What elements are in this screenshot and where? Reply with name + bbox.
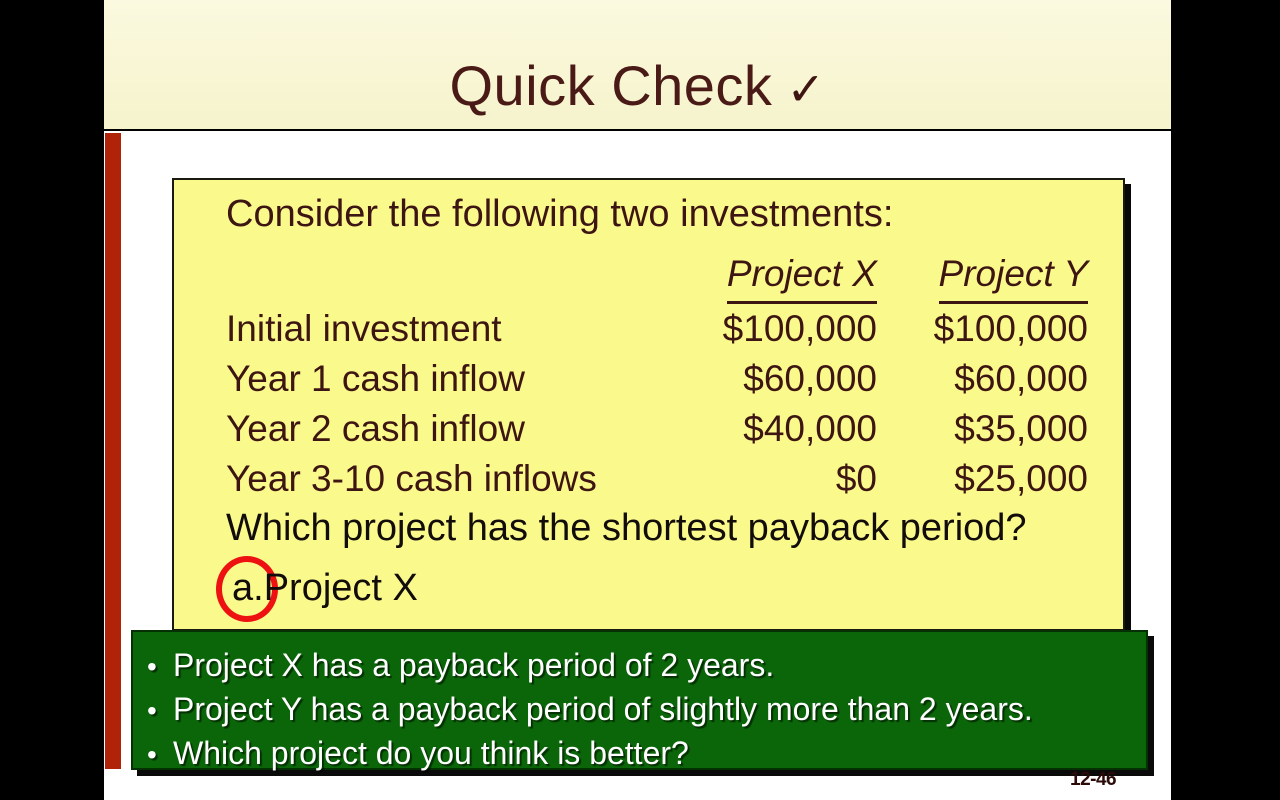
check-mark-icon: ✓ (786, 63, 825, 115)
cell-project-x: $0 (666, 454, 877, 504)
slide-viewer: Quick Check✓ Consider the following two … (0, 0, 1280, 800)
intro-text: Consider the following two investments: (226, 192, 893, 236)
row-label: Year 1 cash inflow (226, 354, 666, 404)
column-header-project-x: Project X (666, 248, 877, 304)
content-panel: Consider the following two investments: … (172, 178, 1125, 631)
list-item: •Project X has a payback period of 2 yea… (147, 644, 1146, 688)
bullet-icon: • (147, 689, 173, 732)
table-row: Year 2 cash inflow $40,000 $35,000 (226, 404, 1088, 454)
list-item-label: Project X has a payback period of 2 year… (173, 647, 774, 683)
row-label: Year 2 cash inflow (226, 404, 666, 454)
cell-project-y: $35,000 (877, 404, 1088, 454)
explanation-callout: •Project X has a payback period of 2 yea… (131, 630, 1148, 770)
table-header: Project X Project Y (226, 248, 1088, 304)
list-item: •Which project do you think is better? (147, 732, 1146, 776)
column-header-blank (226, 248, 666, 304)
table-body: Initial investment $100,000 $100,000 Yea… (226, 304, 1088, 504)
row-label: Initial investment (226, 304, 666, 354)
cell-project-y: $100,000 (877, 304, 1088, 354)
column-header-project-y: Project Y (877, 248, 1088, 304)
cell-project-y: $60,000 (877, 354, 1088, 404)
answer-option-a[interactable]: a.Project X (232, 566, 418, 610)
column-header-project-y-label: Project Y (939, 248, 1088, 304)
list-item-label: Project Y has a payback period of slight… (173, 691, 1033, 727)
bullet-icon: • (147, 645, 173, 688)
page-title-text: Quick Check (450, 54, 773, 117)
cell-project-x: $60,000 (666, 354, 877, 404)
cell-project-x: $40,000 (666, 404, 877, 454)
presentation-slide: Quick Check✓ Consider the following two … (104, 0, 1171, 800)
table-row: Initial investment $100,000 $100,000 (226, 304, 1088, 354)
cell-project-y: $25,000 (877, 454, 1088, 504)
cell-project-x: $100,000 (666, 304, 877, 354)
slide-title-banner: Quick Check✓ (104, 0, 1171, 131)
table-row: Year 1 cash inflow $60,000 $60,000 (226, 354, 1088, 404)
answer-marker: a. (232, 567, 264, 609)
list-item: •Project Y has a payback period of sligh… (147, 688, 1146, 732)
list-item-label: Which project do you think is better? (173, 735, 689, 771)
page-title: Quick Check✓ (104, 58, 1171, 117)
row-label: Year 3-10 cash inflows (226, 454, 666, 504)
bullet-icon: • (147, 733, 173, 776)
left-accent-bar (105, 133, 121, 769)
investments-table: Project X Project Y Initial investment $… (226, 248, 1088, 504)
question-text: Which project has the shortest payback p… (226, 506, 1027, 550)
table-row: Year 3-10 cash inflows $0 $25,000 (226, 454, 1088, 504)
page-number: 12-46 (1070, 769, 1116, 791)
table-header-row: Project X Project Y (226, 248, 1088, 304)
answer-label: Project X (264, 567, 418, 609)
column-header-project-x-label: Project X (727, 248, 877, 304)
